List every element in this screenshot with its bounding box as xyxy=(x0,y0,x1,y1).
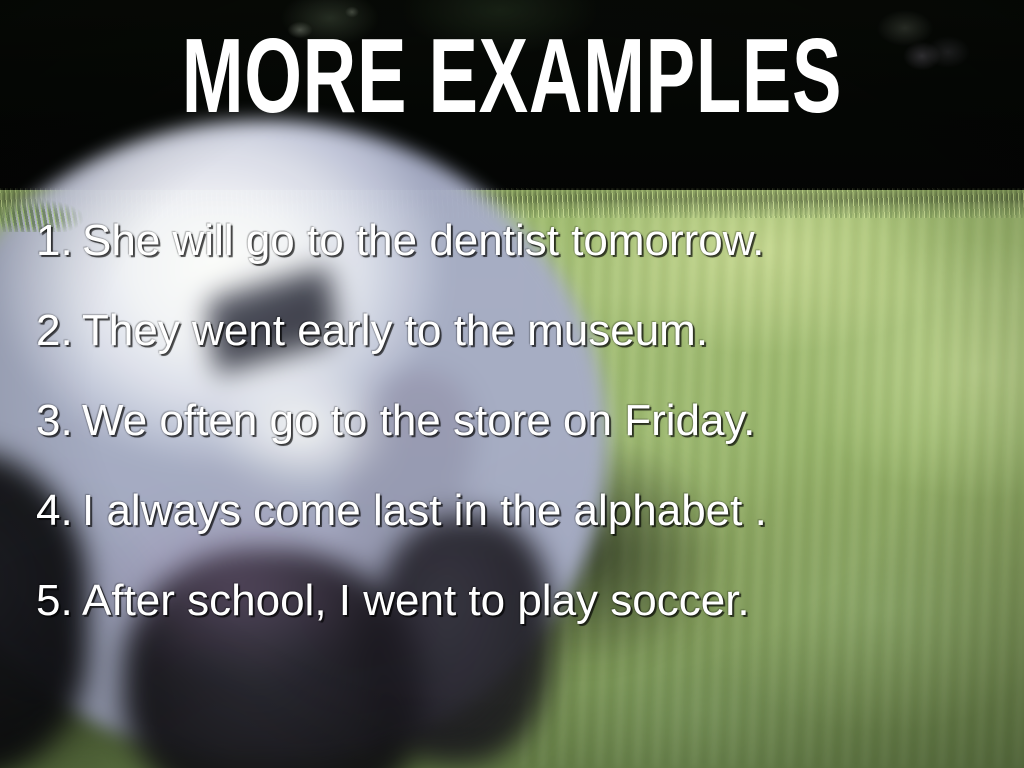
list-item: 2. They went early to the museum. xyxy=(0,286,1024,376)
list-item: 3. We often go to the store on Friday. xyxy=(0,376,1024,466)
list-item-number: 1. xyxy=(0,196,82,286)
page-title: More Examples xyxy=(154,26,871,126)
slide-content: More Examples 1. She will go to the dent… xyxy=(0,0,1024,768)
list-item-text: After school, I went to play soccer. xyxy=(82,556,750,646)
list-item-number: 5. xyxy=(0,556,82,646)
presentation-slide: More Examples 1. She will go to the dent… xyxy=(0,0,1024,768)
list-item-text: They went early to the museum. xyxy=(82,286,708,376)
examples-list: 1. She will go to the dentist tomorrow. … xyxy=(0,196,1024,646)
list-item-number: 3. xyxy=(0,376,82,466)
list-item: 5. After school, I went to play soccer. xyxy=(0,556,1024,646)
list-item-text: I always come last in the alphabet . xyxy=(82,466,767,556)
list-item-number: 4. xyxy=(0,466,82,556)
list-item: 1. She will go to the dentist tomorrow. xyxy=(0,196,1024,286)
list-item: 4. I always come last in the alphabet . xyxy=(0,466,1024,556)
list-item-number: 2. xyxy=(0,286,82,376)
list-item-text: We often go to the store on Friday. xyxy=(82,376,755,466)
list-item-text: She will go to the dentist tomorrow. xyxy=(82,196,764,286)
